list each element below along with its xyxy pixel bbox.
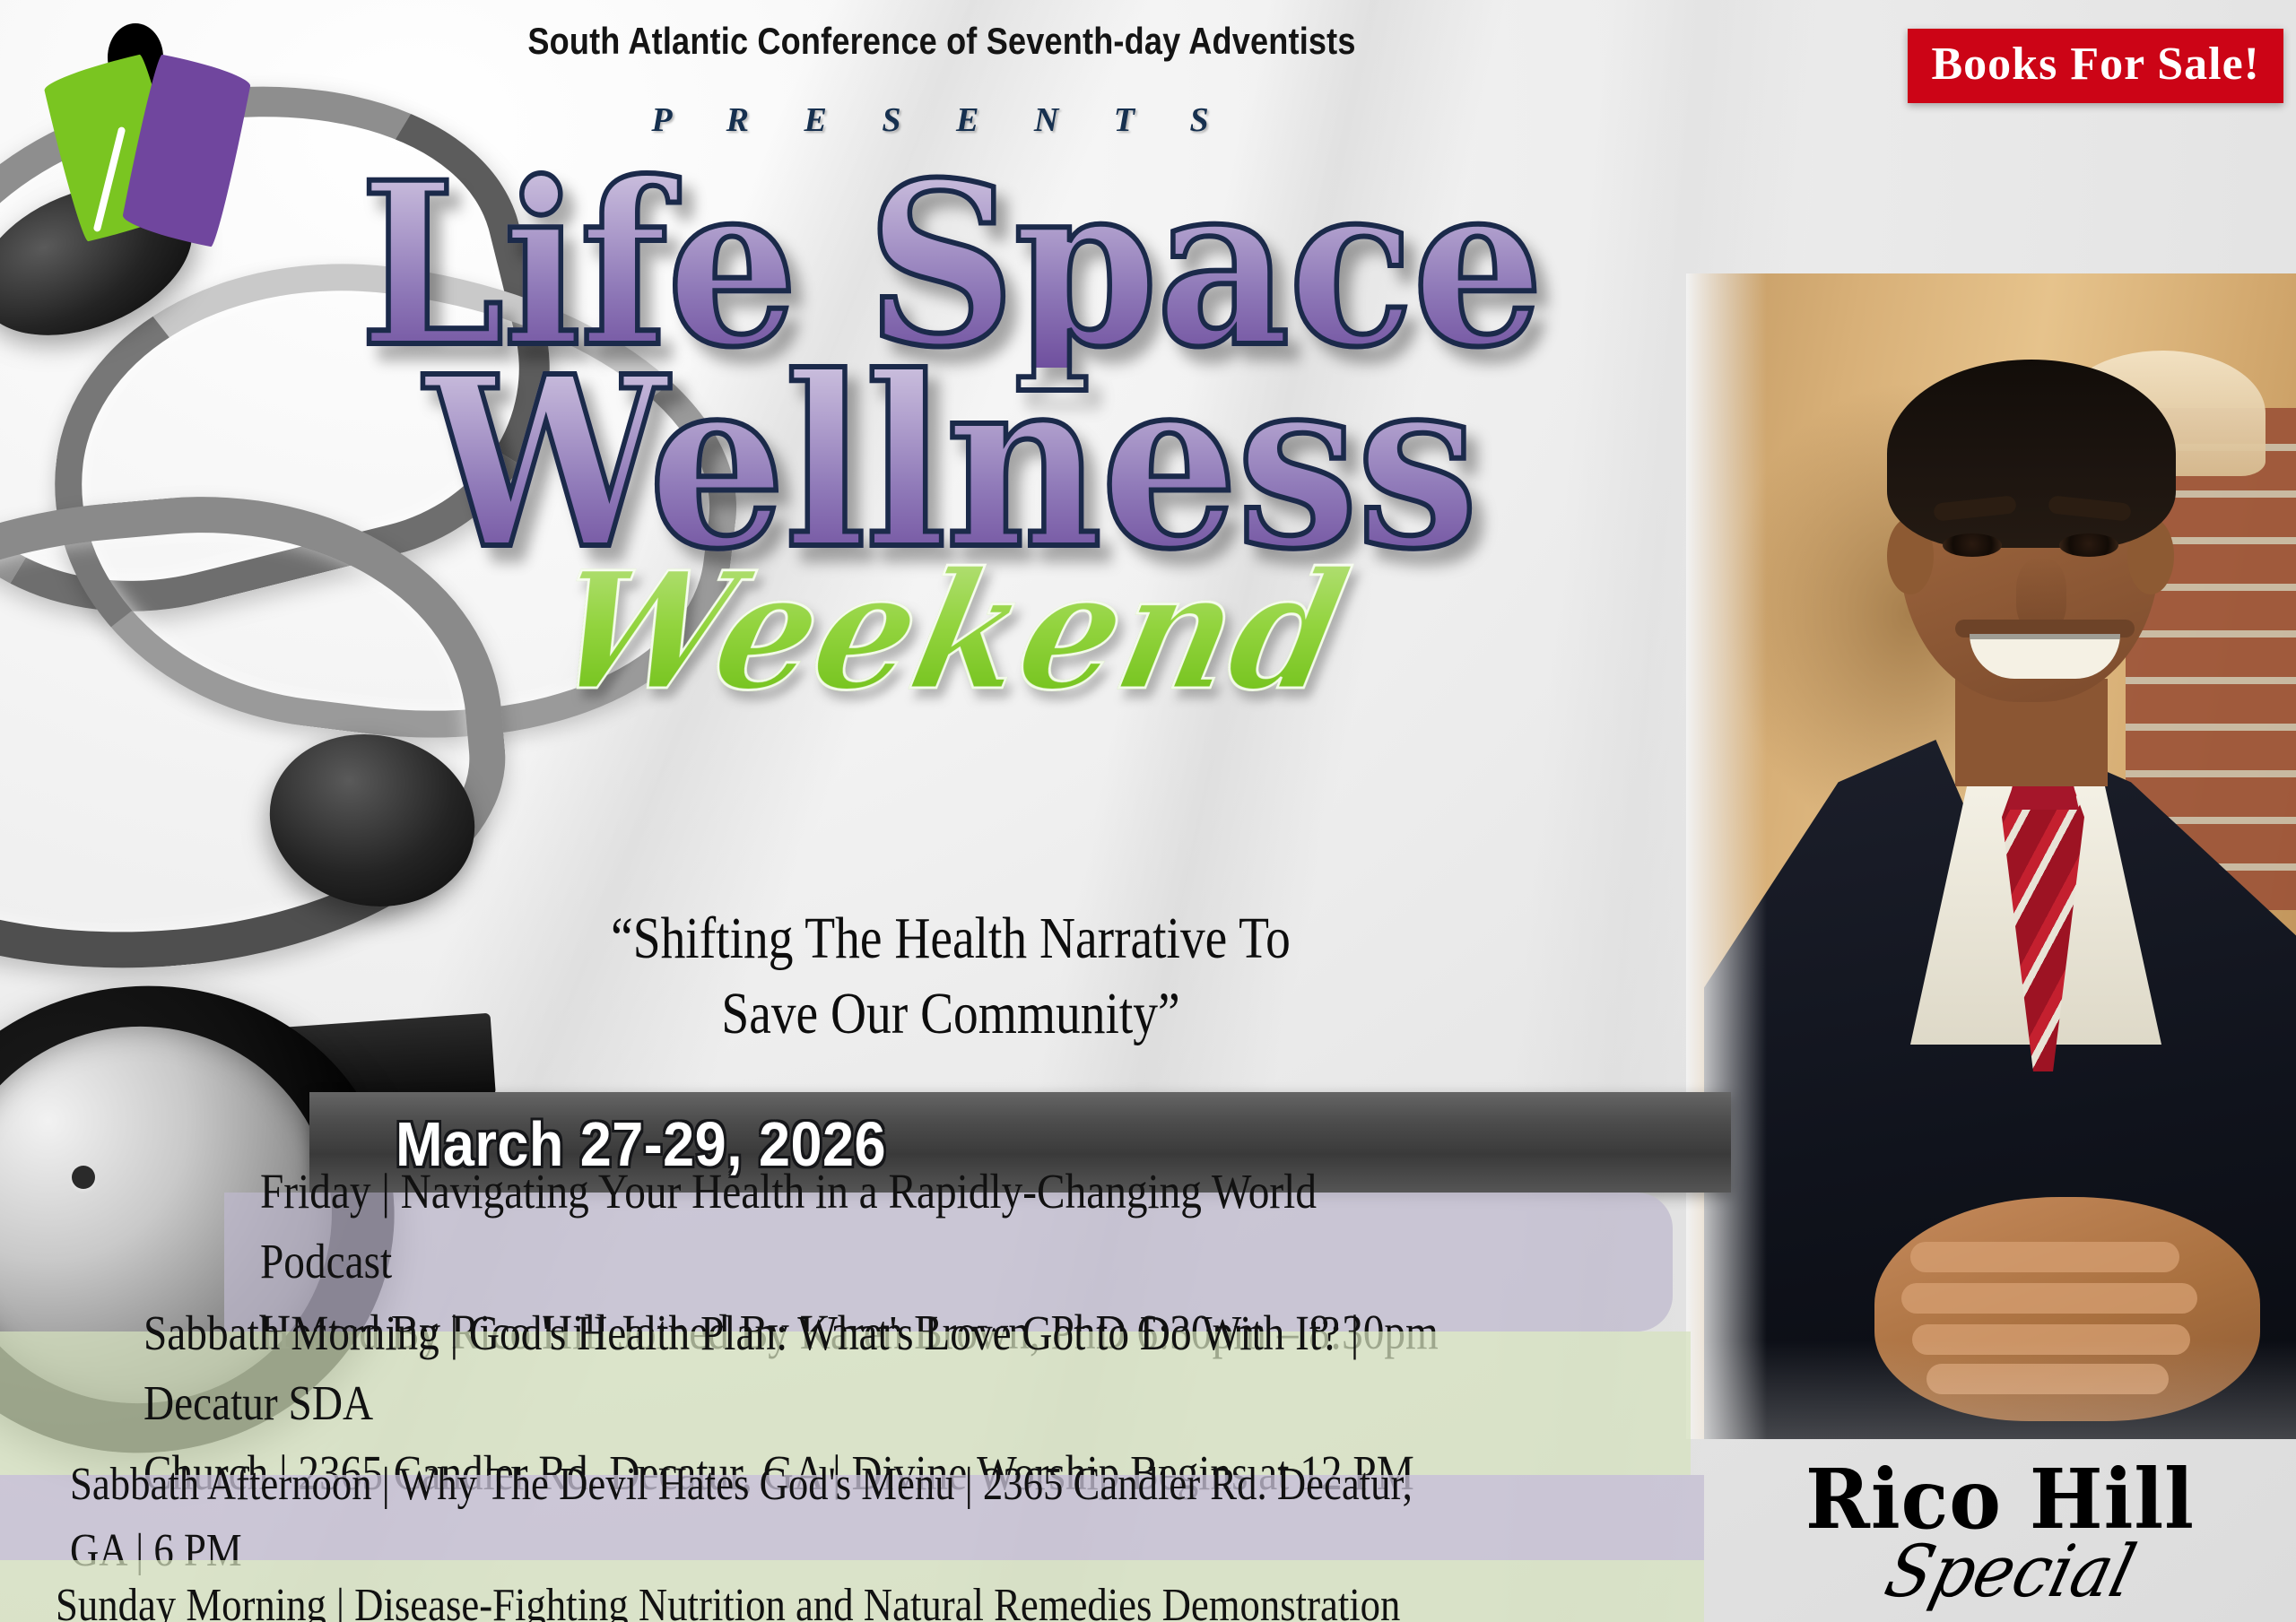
photo-finger — [1901, 1283, 2197, 1314]
photo-finger — [1910, 1242, 2179, 1272]
schedule-line: Sunday Morning | Disease-Fighting Nutrit… — [56, 1573, 1474, 1622]
conference-name: South Atlantic Conference of Seventh-day… — [132, 20, 1752, 63]
photo-eye-left — [1943, 533, 2002, 557]
event-title-block: Life Space Wellness Weekend — [0, 161, 1901, 713]
photo-hair — [1887, 360, 2176, 548]
schedule-line: Friday | Navigating Your Health in a Rap… — [260, 1157, 1444, 1297]
books-for-sale-badge: Books For Sale! — [1908, 29, 2283, 103]
presenter-role: Special Presenter — [1707, 1530, 2293, 1622]
flyer-poster: South Atlantic Conference of Seventh-day… — [0, 0, 2296, 1622]
tagline-line-1: “Shifting The Health Narrative To — [152, 901, 1750, 976]
tagline-line-2: Save Our Community” — [152, 976, 1750, 1052]
schedule-row-sabbath-afternoon: Sabbath Afternoon | Why The Devil Hates … — [0, 1475, 1704, 1560]
schedule-row-sunday-morning: Sunday Morning | Disease-Fighting Nutrit… — [0, 1560, 1704, 1622]
schedule-line: Sabbath Morning | God's Health Plan: Wha… — [143, 1298, 1474, 1438]
event-tagline: “Shifting The Health Narrative To Save O… — [152, 901, 1750, 1053]
photo-eye-right — [2059, 533, 2118, 557]
photo-smile — [1970, 634, 2120, 679]
photo-bottom-fade — [1686, 1340, 2296, 1439]
title-script-weekend: Weekend — [30, 551, 1871, 713]
stethoscope-bell-pin — [72, 1166, 95, 1189]
